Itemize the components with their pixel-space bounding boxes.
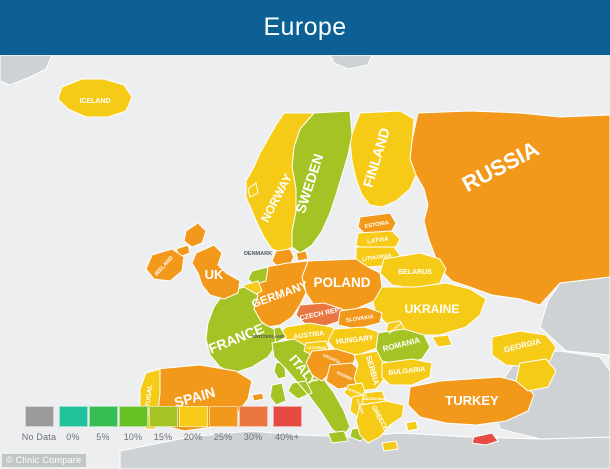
copyright-credit: © Clinic Compare [2,454,86,467]
legend-item-5[interactable]: 5% [88,406,118,442]
page-title: Europe [263,13,346,42]
country-balearics[interactable] [252,393,264,401]
header-bar: Europe [0,0,610,55]
legend-swatch-30 [239,406,268,427]
country-iceland[interactable] [58,79,132,117]
country-sardinia[interactable] [270,383,286,405]
legend-swatch-25 [209,406,238,427]
country-bulgaria[interactable] [382,359,432,385]
country-sweden[interactable] [292,111,352,253]
legend-label-nodata: No Data [22,432,56,442]
legend-label-15: 15% [154,432,173,442]
legend-item-25[interactable]: 25% [208,406,238,442]
legend-label-30: 30% [244,432,263,442]
legend-item-30[interactable]: 30% [238,406,268,442]
legend-swatch-0 [59,406,88,427]
country-finland[interactable] [350,111,416,207]
legend-label-25: 25% [214,432,233,442]
legend-swatch-15 [149,406,178,427]
legend-label-10: 10% [124,432,143,442]
legend-item-0[interactable]: 0% [58,406,88,442]
legend-item-20[interactable]: 20% [178,406,208,442]
legend-swatch-40plus [273,406,302,427]
landmass-greenland [0,55,52,85]
country-slovakia[interactable] [338,307,382,329]
country-sicily[interactable] [328,431,348,443]
legend-item-10[interactable]: 10% [118,406,148,442]
legend-label-5: 5% [96,432,109,442]
country-romania[interactable] [376,329,430,365]
legend-item-nodata[interactable]: No Data [20,406,58,442]
legend-swatch-20 [179,406,208,427]
legend: No Data 0% 5% 10% 15% 20% 25% 30% [20,406,306,442]
legend-item-40plus[interactable]: 40%+ [268,406,306,442]
legend-item-15[interactable]: 15% [148,406,178,442]
country-ireland[interactable] [146,249,184,281]
legend-label-20: 20% [184,432,203,442]
map-page: Europe [0,0,610,469]
legend-swatch-5 [89,406,118,427]
legend-swatch-nodata [25,406,54,427]
country-czech-republic[interactable] [296,303,342,327]
legend-label-40plus: 40%+ [275,432,299,442]
country-belarus[interactable] [380,253,446,289]
legend-swatch-10 [119,406,148,427]
landmass-svalbard [330,55,372,69]
legend-label-0: 0% [66,432,79,442]
country-united-kingdom[interactable] [176,223,240,299]
label-denmark: DENMARK [244,251,272,257]
